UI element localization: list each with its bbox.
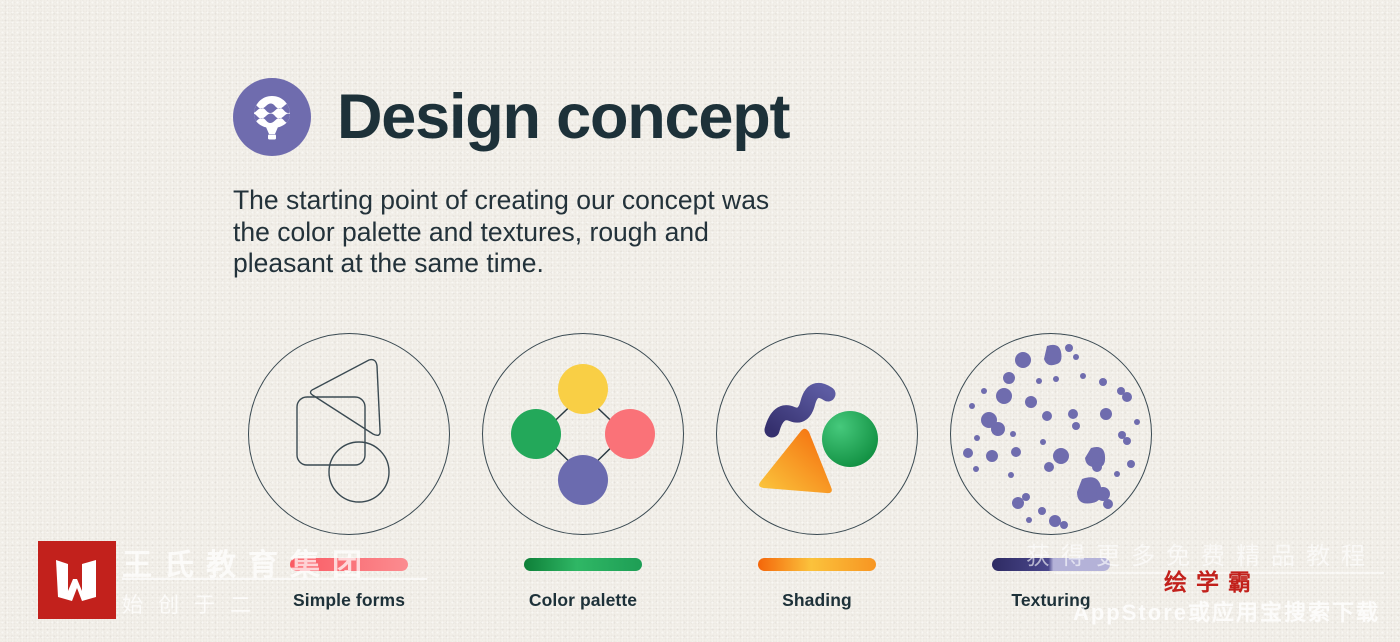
concept-cards-row: Simple forms Color pa <box>232 333 1232 611</box>
card-label: Texturing <box>1011 590 1090 611</box>
intro-paragraph: The starting point of creating our conce… <box>233 185 873 280</box>
speckle-group <box>963 344 1140 529</box>
card-simple-forms[interactable]: Simple forms <box>232 333 466 611</box>
squiggle-shape <box>772 390 828 430</box>
card-color-bar <box>758 558 876 571</box>
card-label: Color palette <box>529 590 637 611</box>
card-color-bar <box>290 558 408 571</box>
illustration-color-nodes <box>482 333 684 535</box>
card-color-bar <box>992 558 1110 571</box>
intro-line-2: the color palette and textures, rough an… <box>233 217 873 249</box>
node-green <box>511 409 561 459</box>
card-color-bar <box>524 558 642 571</box>
watermark-logo <box>38 541 116 619</box>
card-label: Shading <box>782 590 852 611</box>
card-label: Simple forms <box>293 590 405 611</box>
node-coral <box>605 409 655 459</box>
card-shading[interactable]: Shading <box>700 333 934 611</box>
card-texturing[interactable]: Texturing <box>934 333 1168 611</box>
slide-header: Design concept <box>233 78 789 156</box>
illustration-gradient-shapes <box>716 333 918 535</box>
page-title: Design concept <box>337 86 789 149</box>
card-color-palette[interactable]: Color palette <box>466 333 700 611</box>
slide-canvas: Design concept The starting point of cre… <box>0 0 1400 642</box>
intro-line-3: pleasant at the same time. <box>233 248 873 280</box>
circle-shape <box>822 411 878 467</box>
node-purple <box>558 455 608 505</box>
illustration-outline-shapes <box>248 333 450 535</box>
node-yellow <box>558 364 608 414</box>
intro-line-1: The starting point of creating our conce… <box>233 185 873 217</box>
hot-air-balloon-icon <box>233 78 311 156</box>
triangle-shape <box>759 429 832 493</box>
circle-outline <box>329 442 389 502</box>
illustration-speckle-texture <box>950 333 1152 535</box>
